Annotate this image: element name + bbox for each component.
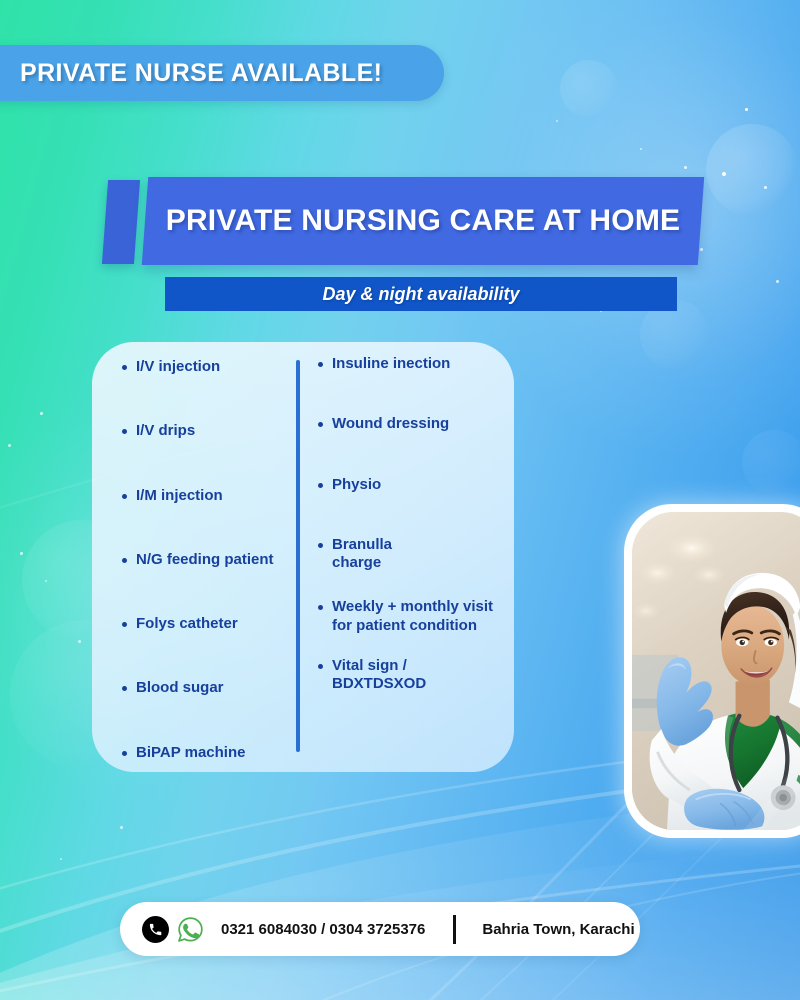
- service-label: Branulla charge: [332, 536, 392, 573]
- phone-icon[interactable]: [142, 916, 169, 943]
- service-label: Folys catheter: [136, 615, 238, 633]
- service-list-item: Weekly + monthly visit for patient condi…: [318, 598, 514, 635]
- service-label: I/M injection: [136, 487, 223, 505]
- bullet-icon: [122, 429, 127, 434]
- bullet-icon: [122, 494, 127, 499]
- services-right-column: Insuline inection Wound dressing Physio …: [318, 355, 514, 694]
- nurse-photo: [632, 512, 800, 830]
- nurse-photo-frame: [624, 504, 800, 838]
- service-list-item: I/V injection: [122, 358, 302, 376]
- service-label: Weekly + monthly visit for patient condi…: [332, 598, 493, 635]
- service-list-item: I/M injection: [122, 487, 302, 505]
- poster-root: PRIVATE NURSE AVAILABLE! PRIVATE NURSING…: [0, 0, 800, 1000]
- service-list-item: Folys catheter: [122, 615, 302, 633]
- contact-divider: [453, 915, 456, 944]
- nurse-illustration: [632, 512, 800, 830]
- availability-banner: PRIVATE NURSE AVAILABLE!: [0, 45, 444, 101]
- subtitle-text: Day & night availability: [322, 284, 519, 305]
- service-list-item: Branulla charge: [318, 536, 514, 573]
- bullet-icon: [318, 605, 323, 610]
- service-list-item: Wound dressing: [318, 415, 514, 433]
- bullet-icon: [318, 422, 323, 427]
- service-list-item: Insuline inection: [318, 355, 514, 373]
- service-list-item: Blood sugar: [122, 679, 302, 697]
- contact-phone-numbers[interactable]: 0321 6084030 / 0304 3725376: [221, 921, 425, 938]
- service-label: Blood sugar: [136, 679, 224, 697]
- main-title-bar: PRIVATE NURSING CARE AT HOME: [142, 177, 704, 265]
- service-label: I/V injection: [136, 358, 220, 376]
- bullet-icon: [318, 543, 323, 548]
- bullet-icon: [122, 751, 127, 756]
- service-label: Physio: [332, 476, 381, 494]
- service-label: N/G feeding patient: [136, 551, 274, 569]
- service-list-item: I/V drips: [122, 422, 302, 440]
- contact-location: Bahria Town, Karachi: [482, 921, 634, 938]
- bullet-icon: [122, 365, 127, 370]
- bullet-icon: [318, 664, 323, 669]
- service-label: BiPAP machine: [136, 744, 245, 762]
- page-title: PRIVATE NURSING CARE AT HOME: [166, 204, 681, 238]
- service-list-item: BiPAP machine: [122, 744, 302, 762]
- bullet-icon: [318, 362, 323, 367]
- service-list-item: N/G feeding patient: [122, 551, 302, 569]
- main-title-inner: PRIVATE NURSING CARE AT HOME: [145, 177, 701, 265]
- service-label: Wound dressing: [332, 415, 449, 433]
- service-list-item: Vital sign / BDXTDSXOD: [318, 657, 514, 694]
- bullet-icon: [122, 622, 127, 627]
- service-list-item: Physio: [318, 476, 514, 494]
- bullet-icon: [122, 686, 127, 691]
- service-label: Vital sign / BDXTDSXOD: [332, 657, 426, 694]
- title-accent-shape: [102, 180, 140, 264]
- service-label: I/V drips: [136, 422, 195, 440]
- subtitle-bar: Day & night availability: [165, 277, 677, 311]
- availability-banner-text: PRIVATE NURSE AVAILABLE!: [20, 59, 382, 88]
- whatsapp-icon[interactable]: [176, 915, 205, 944]
- bullet-icon: [122, 558, 127, 563]
- services-left-column: I/V injection I/V drips I/M injection N/…: [122, 358, 302, 808]
- bullet-icon: [318, 483, 323, 488]
- contact-bar: 0321 6084030 / 0304 3725376 Bahria Town,…: [120, 902, 640, 956]
- service-label: Insuline inection: [332, 355, 450, 373]
